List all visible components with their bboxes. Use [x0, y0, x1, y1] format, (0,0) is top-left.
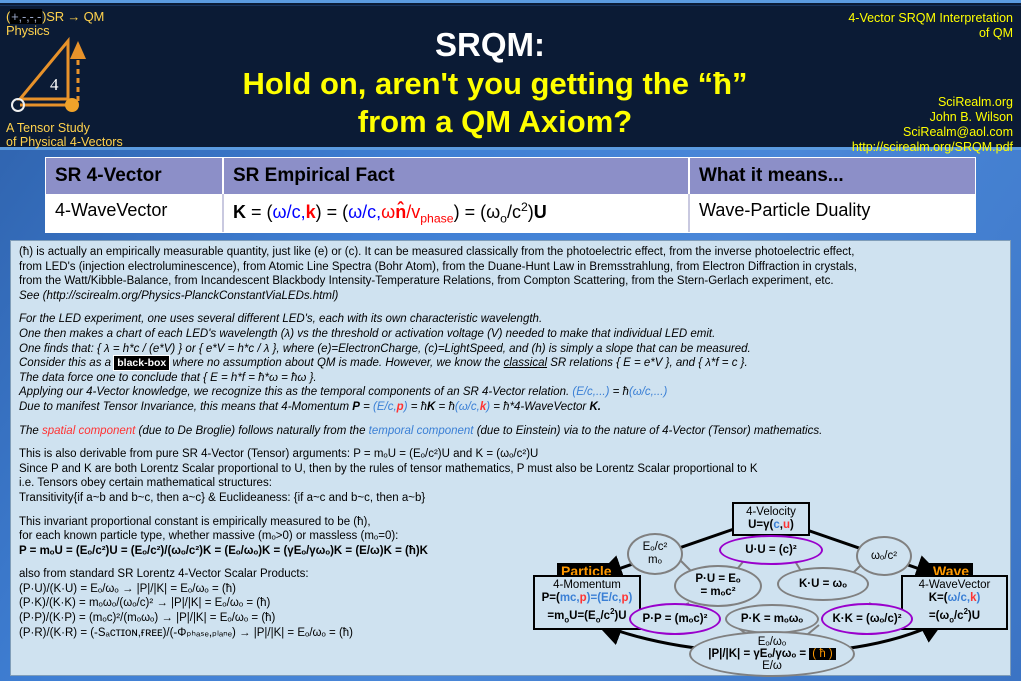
ellipse-k-dot-k: K·K = (ωₒ/c)²: [821, 603, 913, 635]
logo-caption-line2: of Physical 4-Vectors: [6, 135, 123, 149]
p3-c: (due to Einstein) via to the nature of 4…: [474, 425, 823, 437]
credit-site: SciRealm.org: [938, 95, 1013, 109]
ellipse-p-dot-u: P·U = Eₒ= mₒc²: [674, 565, 762, 607]
p4-line2: Since P and K are both Lorentz Scalar pr…: [19, 463, 758, 475]
tensor-triangle-logo-icon: 4: [6, 35, 96, 117]
credit-author: John B. Wilson: [930, 110, 1013, 124]
p2-line7-red1: p: [397, 401, 404, 413]
logo-suffix: )SR → QM: [42, 9, 104, 24]
p5-line1: This invariant proportional constant is …: [19, 516, 371, 528]
table-header-row: SR 4-Vector SR Empirical Fact What it me…: [46, 158, 975, 194]
p2-line4-b: where no assumption about QM is made. Ho…: [169, 357, 503, 369]
paragraph-invariant-constant: This invariant proportional constant is …: [19, 515, 564, 559]
ellipse-energy-mass-l1: Eₒ/c²: [643, 541, 668, 553]
ellipse-ratio-l1: Eₒ/ωₒ: [758, 636, 787, 648]
ellipse-k-dot-u: K·U = ωₒ: [777, 567, 869, 601]
node-4-wavevector: 4-WaveVector K=(ω/c,k) =(ωo/c2)U: [901, 575, 1008, 630]
ellipse-omega-c2-label: ωₒ/c²: [871, 550, 897, 563]
header-right-line1: 4-Vector SRQM Interpretation: [848, 11, 1013, 25]
p2-line7-g: = ħ*4-WaveVector: [490, 401, 589, 413]
ellipse-ratio-l2: |P|/|K| = γEₒ/γωₒ = ( ħ ): [708, 648, 836, 660]
ellipse-p-dot-k: P·K = mₒωₒ: [725, 604, 819, 634]
p1-see-link[interactable]: (http://scirealm.org/Physics-PlanckConst…: [43, 290, 339, 302]
p2-line4-a: Consider this as a: [19, 357, 114, 369]
p6-line3: (P·P)/(K·P) = (mₒc)²/(mₒωₒ) → |P|/|K| = …: [19, 612, 275, 624]
p6-line4: (P·R)/(K·R) = (-Sₐᴄᴛɪᴏɴ,ғʀᴇᴇ)/(-Φₚₕₐₛₑ,ₚ…: [19, 627, 353, 639]
p2-line7-f: = ħ: [435, 401, 455, 413]
cell-4wavevector-fact: K = (ω/c,k) = (ω/c,ωn̂/vphase) = (ωo/c2)…: [224, 194, 690, 232]
hbar-highlight-badge: ( ħ ): [809, 648, 835, 660]
ellipse-p-dot-p-label: P·P = (mₒc)²: [643, 613, 708, 626]
p4-line4: Transitivity{if a~b and b~c, then a~c} &…: [19, 492, 425, 504]
cell-4wavevector-meaning: Wave-Particle Duality: [690, 194, 975, 232]
page-subtitle: Hold on, aren't you getting the “ħ” from…: [150, 65, 840, 141]
logo-caption: A Tensor Study of Physical 4-Vectors: [6, 121, 123, 149]
column-header-4vector: SR 4-Vector: [46, 158, 224, 194]
p6-line1: (P·U)/(K·U) = Eₒ/ωₒ → |P|/|K| = Eₒ/ωₒ = …: [19, 583, 236, 595]
credit-url: http://scirealm.org/SRQM.pdf: [852, 140, 1013, 154]
p1-line3: from the Watt/Kibble-Balance, from Incan…: [19, 275, 834, 287]
ellipse-p-dot-p: P·P = (mₒc)²: [629, 603, 721, 635]
logo-caption-line1: A Tensor Study: [6, 121, 90, 135]
ellipse-u-dot-u-label: U·U = (c)²: [745, 544, 796, 557]
p4-line1: This is also derivable from pure SR 4-Ve…: [19, 448, 538, 460]
cell-4wavevector-name: 4-WaveVector: [46, 194, 224, 232]
ellipse-p-dot-u-l2: = mₒc²: [700, 586, 735, 598]
p1-line1: (ħ) is actually an empirically measurabl…: [19, 246, 854, 258]
ellipse-u-dot-u: U·U = (c)²: [719, 535, 823, 565]
p1-see-prefix: See: [19, 290, 43, 302]
spacer-3: [19, 438, 1004, 447]
paragraph-planck-measurable: (ħ) is actually an empirically measurabl…: [19, 245, 1004, 303]
p2-line7-d: = ħ: [408, 401, 428, 413]
ellipse-energy-mass: Eₒ/c²mₒ: [627, 533, 683, 575]
p2-line7-blue2: (ω/c,: [455, 401, 480, 413]
p2-line7-P: P: [352, 401, 360, 413]
p2-line7-a: Due to manifest Tensor Invariance, this …: [19, 401, 352, 413]
p2-line6-blue1: (E/c,...): [572, 386, 609, 398]
p2-line7-K2: K.: [589, 401, 601, 413]
ellipse-ratio-l3: E/ω: [762, 660, 782, 672]
ellipse-ratio-l2-text: |P|/|K| = γEₒ/γωₒ =: [708, 648, 809, 660]
p2-line1: For the LED experiment, one uses several…: [19, 313, 542, 325]
p2-line5: The data force one to conclude that { E …: [19, 372, 317, 384]
table-row: 4-WaveVector K = (ω/c,k) = (ω/c,ωn̂/vpha…: [46, 194, 975, 232]
ellipse-omega-c2: ωₒ/c²: [856, 536, 912, 576]
p2-line7-eq1: =: [360, 401, 373, 413]
four-vector-table: SR 4-Vector SR Empirical Fact What it me…: [45, 157, 976, 233]
p3-b: (due to De Broglie) follows naturally fr…: [135, 425, 368, 437]
p2-classical-emphasis: classical: [504, 357, 547, 369]
subtitle-line-2: from a QM Axiom?: [358, 104, 632, 139]
spacer-2: [19, 415, 1004, 424]
column-header-empirical-fact: SR Empirical Fact: [224, 158, 690, 194]
paragraph-scalar-products: also from standard SR Lorentz 4-Vector S…: [19, 567, 564, 640]
p3-spatial-component: spatial component: [42, 425, 135, 437]
p2-line4-c: SR relations { E = e*V }, and { λ*f = c …: [547, 357, 748, 369]
author-credits: SciRealm.org John B. Wilson SciRealm@aol…: [852, 95, 1013, 155]
node-4-momentum-title: 4-Momentum: [553, 579, 621, 591]
p3-temporal-component: temporal component: [369, 425, 474, 437]
ellipse-p-dot-u-l1: P·U = Eₒ: [695, 573, 740, 585]
credit-email: SciRealm@aol.com: [903, 125, 1013, 139]
paragraph-spatial-temporal: The spatial component (due to De Broglie…: [19, 424, 1004, 439]
p5-line3: P = mₒU = (Eₒ/c²)U = (Eₒ/c²)/(ωₒ/c²)K = …: [19, 545, 428, 557]
node-4-velocity-title: 4-Velocity: [746, 506, 796, 518]
logo-title: (+,-,-,-)SR → QM Physics: [6, 10, 104, 38]
paragraph-tensor-derivation: This is also derivable from pure SR 4-Ve…: [19, 447, 1004, 505]
p2-line6-a: Applying our 4-Vector knowledge, we reco…: [19, 386, 572, 398]
ellipse-k-dot-k-label: K·K = (ωₒ/c)²: [832, 613, 901, 626]
node-4-momentum: 4-Momentum P=(mc,p)=(E/c,p) =moU=(Eo/c2)…: [533, 575, 641, 630]
page-title: SRQM:: [180, 27, 800, 63]
p1-line2: from LED's (injection electroluminescenc…: [19, 261, 857, 273]
p3-a: The: [19, 425, 42, 437]
paragraph-led-experiment: For the LED experiment, one uses several…: [19, 312, 1004, 414]
header-right-label: 4-Vector SRQM Interpretation of QM: [848, 11, 1013, 41]
p5-line2: for each known particle type, whether ma…: [19, 530, 398, 542]
node-4-wavevector-title: 4-WaveVector: [919, 579, 991, 591]
column-header-meaning: What it means...: [690, 158, 975, 194]
p2-line6-blue2: (ω/c,...): [629, 386, 667, 398]
p2-line6-mid: = ħ: [609, 386, 629, 398]
spacer-1: [19, 303, 1004, 312]
p6-line2: (P·K)/(K·K) = mₒωₒ/(ωₒ/c)² → |P|/|K| = E…: [19, 597, 270, 609]
logo-metric-signature: +,-,-,-: [10, 9, 42, 24]
ellipse-k-dot-u-label: K·U = ωₒ: [799, 578, 847, 591]
header-right-line2: of QM: [979, 26, 1013, 40]
srqm-relation-diagram: Particle Wave 4-Velocity U=γ(c,u) 4-Mome…: [529, 503, 1012, 675]
black-box-highlight: black-box: [114, 356, 169, 370]
p6-line0: also from standard SR Lorentz 4-Vector S…: [19, 568, 309, 580]
p2-line3: One finds that: { λ = h*c / (e*V) } or {…: [19, 343, 751, 355]
slide-header: (+,-,-,-)SR → QM Physics 4 A Tensor Stud…: [0, 0, 1021, 150]
subtitle-line-1: Hold on, aren't you getting the “ħ”: [242, 66, 747, 101]
slide-root: (+,-,-,-)SR → QM Physics 4 A Tensor Stud…: [0, 0, 1021, 681]
p2-line7-blue1: (E/c,: [373, 401, 397, 413]
ellipse-energy-mass-l2: mₒ: [648, 554, 662, 566]
logo-number-4: 4: [50, 75, 59, 94]
p4-line3: i.e. Tensors obey certain mathematical s…: [19, 477, 272, 489]
ellipse-p-dot-k-label: P·K = mₒωₒ: [741, 613, 803, 626]
ellipse-ratio-hbar: Eₒ/ωₒ |P|/|K| = γEₒ/γωₒ = ( ħ ) E/ω: [689, 631, 855, 677]
node-4-velocity: 4-Velocity U=γ(c,u): [732, 502, 810, 536]
p2-line2: One then makes a chart of each LED's wav…: [19, 328, 715, 340]
content-panel: (ħ) is actually an empirically measurabl…: [10, 240, 1011, 676]
